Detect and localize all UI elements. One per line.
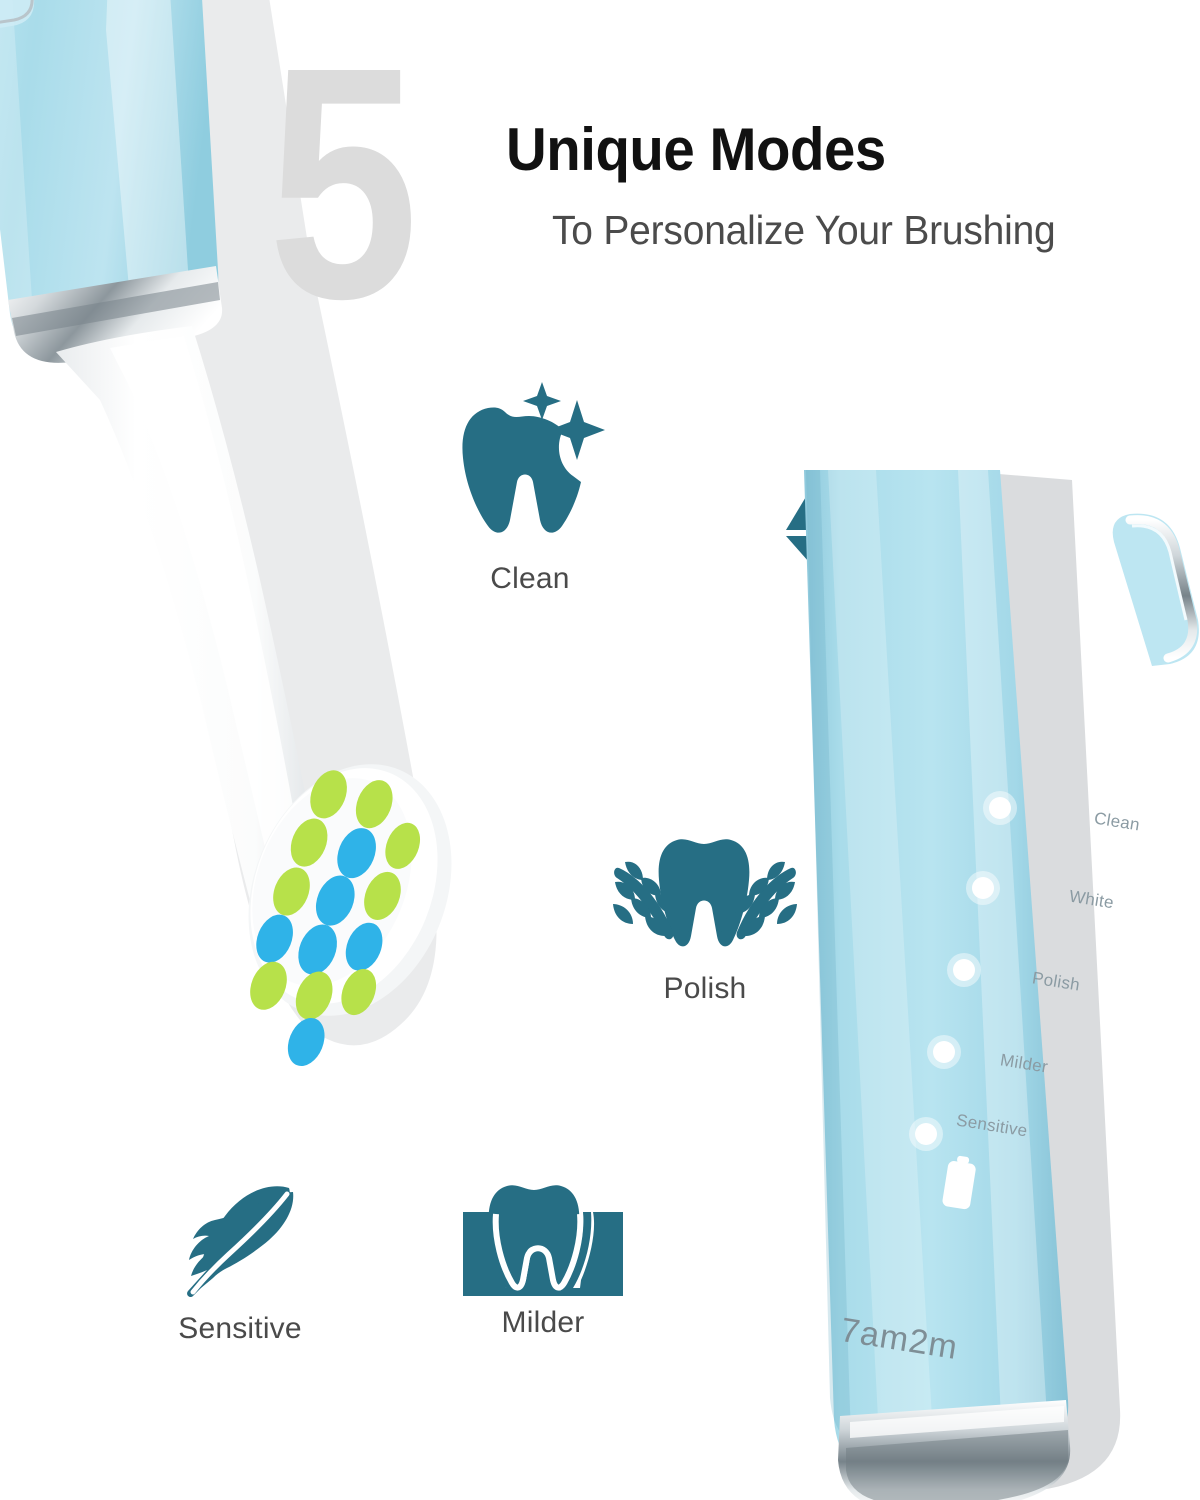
big-number-5: 5 [268, 18, 414, 348]
feather-icon [177, 1182, 303, 1302]
mode-label-sensitive: Sensitive [140, 1312, 340, 1346]
product-feature-graphic: 5 Unique Modes To Personalize Your Brush… [0, 0, 1200, 1500]
mode-label-milder: Milder [448, 1306, 638, 1340]
mode-button[interactable] [1113, 514, 1199, 666]
mode-item-clean: Clean [440, 382, 620, 596]
mode-item-sensitive: Sensitive [140, 1182, 340, 1346]
handle-top-section [0, 0, 222, 363]
mode-item-milder: Milder [448, 1180, 638, 1340]
mode-label-clean: Clean [440, 562, 620, 596]
tooth-sparkle-icon [455, 382, 605, 552]
tooth-gum-icon [463, 1180, 623, 1296]
handle-base-ring [838, 1400, 1070, 1500]
page-subtitle: To Personalize Your Brushing [552, 208, 1160, 253]
page-title: Unique Modes [506, 118, 1126, 181]
